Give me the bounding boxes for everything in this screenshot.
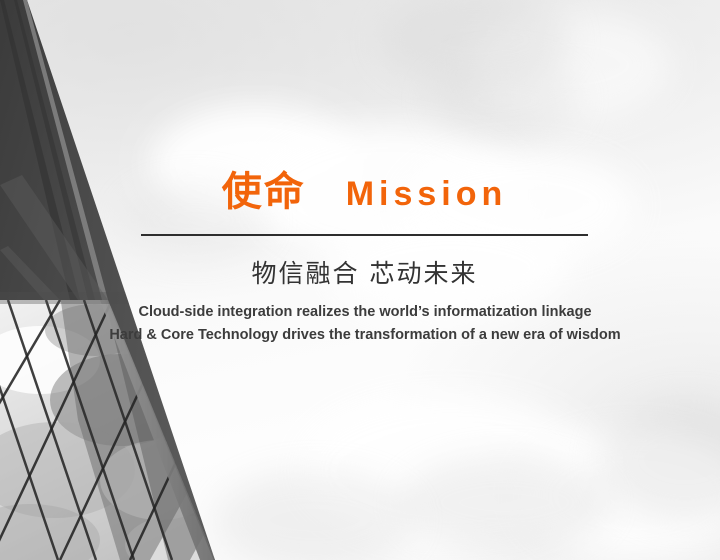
slide-content: 使命 Mission 物信融合 芯动未来 Cloud-side integrat… [0, 0, 720, 560]
mission-slide: 使命 Mission 物信融合 芯动未来 Cloud-side integrat… [0, 0, 720, 560]
page-title-en: Mission [346, 177, 508, 211]
tagline-line-2: Hard & Core Technology drives the transf… [60, 324, 670, 347]
title-divider [141, 234, 588, 236]
tagline-line-1: Cloud-side integration realizes the worl… [60, 301, 670, 324]
subtitle-cn: 物信融合 芯动未来 [141, 258, 588, 291]
page-title-cn: 使命 [222, 172, 306, 212]
tagline-block: Cloud-side integration realizes the worl… [60, 301, 670, 347]
headline: 使命 Mission [141, 172, 588, 212]
